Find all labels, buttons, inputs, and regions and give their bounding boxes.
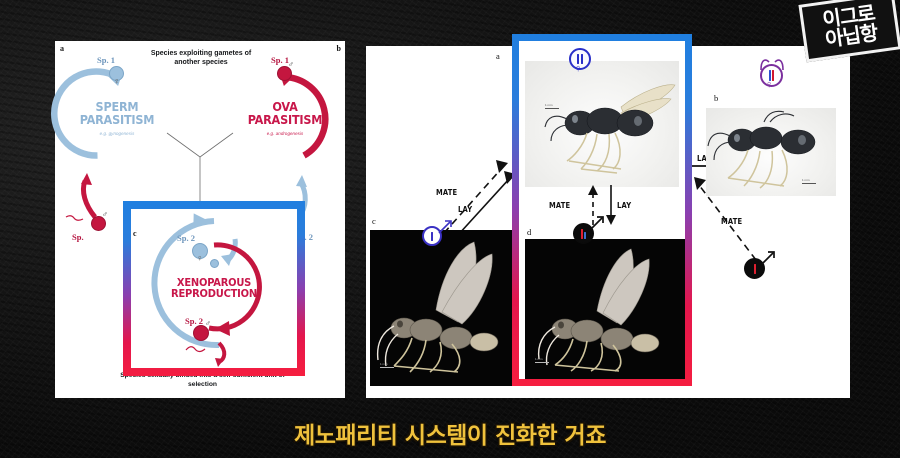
xenoparous-title-line2: REPRODUCTION: [171, 287, 257, 300]
badge-a-male-bars: [431, 232, 433, 241]
right-panel-label-d: d: [527, 227, 531, 237]
scale-bar-a: 1 mm: [545, 103, 559, 109]
female-symbol-icon-b: ♀: [765, 80, 773, 91]
male-arrow-icon-b: [759, 249, 777, 267]
scale-bar-c-label: 1 mm: [380, 362, 388, 366]
specimen-photo-panel-d: 1 mm: [525, 239, 685, 379]
female-symbol-icon-center: ♀: [574, 64, 582, 75]
center-highlight-frame: 1 mm MATE LAY: [512, 34, 692, 386]
right-figure-panel: a b MATE LAY: [366, 46, 850, 398]
female-symbol-icon-3: ♀: [197, 254, 204, 263]
male-symbol-icon-3: ♂: [205, 320, 211, 328]
video-subtitle: 제노패리티 시스템이 진화한 거죠: [0, 416, 900, 450]
arrow-label-center-lay: LAY: [617, 201, 631, 210]
scale-bar-b-label: 1 mm: [802, 178, 810, 182]
scale-bar-c: 1 mm: [380, 362, 394, 368]
scale-bar-b: 1 mm: [802, 178, 816, 184]
male-arrow-icon-d: [588, 214, 606, 232]
xenoparous-cycle-title: XENOPAROUS REPRODUCTION: [131, 277, 297, 299]
channel-logo: 이그로 아닙항: [798, 0, 900, 62]
ant-queen-drawing-a: [525, 61, 679, 187]
scale-bar-d: 1 mm: [535, 357, 549, 363]
male-horns-icon-b: [757, 56, 787, 72]
scale-bar-a-label: 1 mm: [545, 103, 553, 107]
species-label-sp2-inner-top: Sp. 2: [177, 233, 195, 243]
left-figure-panel: a b Species exploiting gametes of anothe…: [55, 41, 345, 398]
right-panel-label-c: c: [372, 216, 376, 226]
panel-label-c: c: [133, 229, 137, 238]
xenoparous-highlight-frame: XENOPAROUS REPRODUCTION: [123, 201, 305, 376]
ant-male-drawing-d: [525, 239, 685, 379]
badge-d-male-bars: [581, 229, 586, 239]
video-frame: a b Species exploiting gametes of anothe…: [0, 0, 900, 458]
logo-line2: 아닙항: [824, 23, 878, 50]
species-label-sp2-left: Sp.: [72, 232, 84, 242]
arrow-label-b-mate: MATE: [721, 217, 742, 226]
specimen-photo-panel-c: 1 mm: [370, 230, 512, 386]
xenoparous-panel-inner: XENOPAROUS REPRODUCTION: [131, 209, 297, 368]
badge-b-male-bars: [754, 264, 756, 274]
gamete-dot-xeno-small-blue: [210, 259, 219, 268]
ant-drawing-b: [706, 108, 836, 196]
male-arrow-icon-a: [436, 218, 454, 236]
center-panel-inner: 1 mm MATE LAY: [519, 41, 685, 379]
specimen-photo-panel-b: 1 mm: [706, 108, 836, 196]
male-symbol-icon-2: ♂: [102, 211, 108, 219]
video-subtitle-text: 제노패리티 시스템이 진화한 거죠: [294, 423, 606, 449]
specimen-photo-panel-a: 1 mm: [525, 61, 679, 187]
arrow-label-center-mate: MATE: [549, 201, 570, 210]
scale-bar-d-label: 1 mm: [535, 357, 543, 361]
